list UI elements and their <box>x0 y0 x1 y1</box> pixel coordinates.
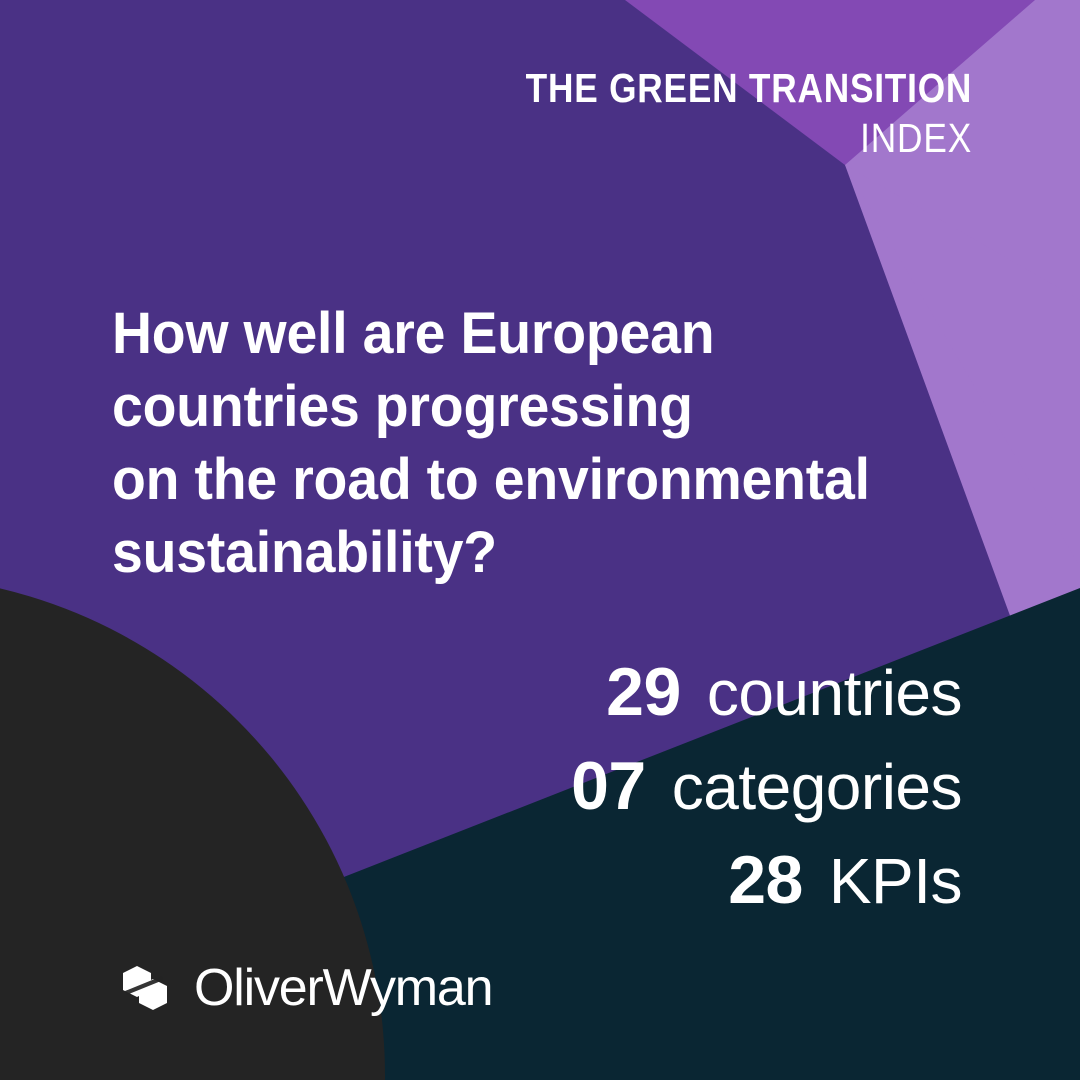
stat-label-categories: categories <box>672 743 962 831</box>
oliver-wyman-logo-icon <box>114 965 176 1011</box>
stat-row-kpis: 28 KPIs <box>528 836 962 924</box>
stat-label-countries: countries <box>707 649 962 737</box>
oliver-wyman-logo: OliverWyman <box>114 962 492 1014</box>
stat-value-kpis: 28 <box>685 836 803 924</box>
stat-value-countries: 29 <box>563 648 681 736</box>
headline-line-4: sustainability? <box>112 516 933 589</box>
brand-eyebrow-line-2: INDEX <box>526 118 972 159</box>
page-title: How well are European countries progress… <box>112 297 972 589</box>
stat-row-countries: 29 countries <box>528 648 962 736</box>
poster-canvas: THE GREEN TRANSITION INDEX How well are … <box>0 0 1080 1080</box>
brand-eyebrow-line-1: THE GREEN TRANSITION <box>526 68 972 109</box>
headline-line-3: on the road to environmental <box>112 443 933 516</box>
headline-line-2: countries progressing <box>112 370 933 443</box>
brand-lockup: THE GREEN TRANSITION INDEX <box>453 68 972 159</box>
stats-block: 29 countries 07 categories 28 KPIs <box>528 648 962 924</box>
oliver-wyman-wordmark: OliverWyman <box>194 962 492 1014</box>
stat-row-categories: 07 categories <box>528 742 962 830</box>
stat-label-kpis: KPIs <box>829 837 962 925</box>
headline-line-1: How well are European <box>112 297 933 370</box>
stat-value-categories: 07 <box>528 742 646 830</box>
